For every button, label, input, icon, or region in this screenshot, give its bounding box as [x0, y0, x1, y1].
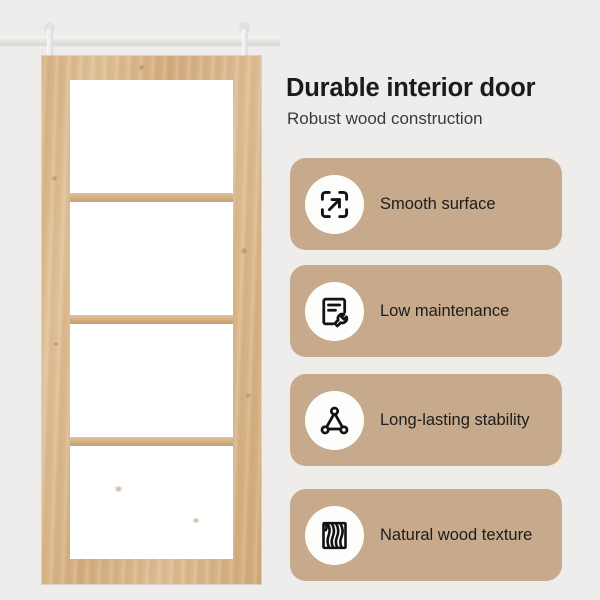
feature-card-smooth-surface: Smooth surface [290, 158, 562, 250]
product-image-barn-door [0, 0, 280, 600]
door-glass-pane [70, 80, 233, 193]
page-subtitle: Robust wood construction [287, 109, 599, 129]
feature-card-long-lasting-stability: Long-lasting stability [290, 374, 562, 466]
feature-card-label: Smooth surface [380, 195, 496, 214]
wood-grain-icon [305, 506, 364, 565]
door-muntin-rail [70, 437, 233, 446]
wood-knot [114, 486, 123, 492]
door-slab [42, 56, 261, 584]
door-glass-pane [70, 446, 233, 559]
wood-knot [240, 248, 248, 254]
feature-card-low-maintenance: Low maintenance [290, 265, 562, 357]
page-title: Durable interior door [286, 74, 598, 102]
smooth-surface-icon [305, 175, 364, 234]
door-glass-pane [70, 324, 233, 437]
wood-knot [51, 176, 58, 181]
door-glass-pane [70, 202, 233, 315]
door-muntin-rail [70, 193, 233, 202]
door-muntin-rail [70, 315, 233, 324]
content-column: Durable interior door Robust wood constr… [284, 0, 600, 600]
wood-knot [138, 65, 145, 70]
product-infographic: Durable interior door Robust wood constr… [0, 0, 600, 600]
feature-card-label: Low maintenance [380, 302, 509, 321]
feature-card-label: Natural wood texture [380, 526, 532, 545]
triangle-nodes-icon [305, 391, 364, 450]
wood-knot [192, 518, 200, 523]
feature-card-label: Long-lasting stability [380, 411, 530, 430]
wood-knot [245, 393, 251, 398]
document-wrench-icon [305, 282, 364, 341]
wood-knot [53, 342, 59, 346]
feature-card-natural-wood-texture: Natural wood texture [290, 489, 562, 581]
